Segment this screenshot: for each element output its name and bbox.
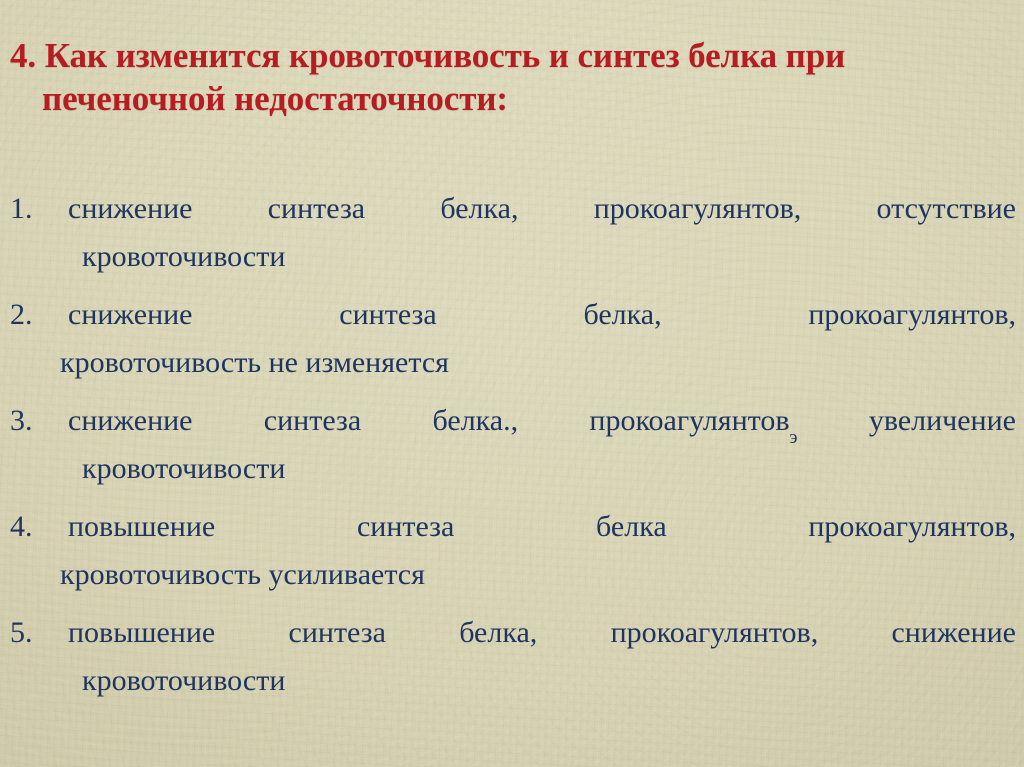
list-item-text: снижение синтеза белка, прокоагулянтов, … [68, 185, 1016, 281]
subscript-artifact-glyph: э [790, 427, 798, 448]
list-item[interactable]: 5. повышение синтеза белка, прокоагулянт… [8, 609, 1016, 705]
list-item-line-1: повышение синтеза белка, прокоагулянтов,… [68, 609, 1016, 657]
list-item[interactable]: 3. снижение синтеза белка., прокоагулянт… [8, 397, 1016, 493]
list-item-text: повышение синтеза белка, прокоагулянтов,… [68, 609, 1016, 705]
list-item-line-1: снижение синтеза белка, прокоагулянтов, [68, 291, 1016, 339]
list-item-line-1: снижение синтеза белка, прокоагулянтов, … [68, 185, 1016, 233]
list-item-line-2: кровоточивости [68, 657, 1016, 705]
list-item[interactable]: 1. снижение синтеза белка, прокоагулянто… [8, 185, 1016, 281]
slide-canvas: 4. Как изменится кровоточивость и синтез… [0, 0, 1024, 767]
answer-options-list: 1. снижение синтеза белка, прокоагулянто… [8, 185, 1016, 705]
list-item-line-2: кровоточивости [68, 445, 1016, 493]
list-item-text: снижение синтеза белка, прокоагулянтов, … [68, 291, 1016, 387]
list-item-number: 5. [10, 609, 56, 657]
list-item-line-2: кровоточивость усиливается [60, 551, 1016, 599]
list-item[interactable]: 2. снижение синтеза белка, прокоагулянто… [8, 291, 1016, 387]
list-item-number: 2. [10, 291, 56, 339]
list-item-line-1: повышение синтеза белка прокоагулянтов, [68, 503, 1016, 551]
list-item-line-2: кровоточивость не изменяется [60, 339, 1016, 387]
list-item-line-1-main: снижение синтеза белка., прокоагулянтов [68, 404, 790, 437]
list-item-number: 1. [10, 185, 56, 233]
list-item-text: снижение синтеза белка., прокоагулянтовэ… [68, 397, 1016, 493]
list-item-number: 4. [10, 503, 56, 551]
page-title: 4. Как изменится кровоточивость и синтез… [8, 34, 1016, 120]
list-item-line-1: снижение синтеза белка., прокоагулянтовэ… [68, 397, 1016, 445]
list-item-line-1-tail: увеличение [798, 404, 1016, 437]
list-item-number: 3. [10, 397, 56, 445]
list-item-line-2: кровоточивости [68, 233, 1016, 281]
title-block: 4. Как изменится кровоточивость и синтез… [8, 34, 1016, 120]
list-item-text: повышение синтеза белка прокоагулянтов, … [68, 503, 1016, 599]
list-item[interactable]: 4. повышение синтеза белка прокоагулянто… [8, 503, 1016, 599]
